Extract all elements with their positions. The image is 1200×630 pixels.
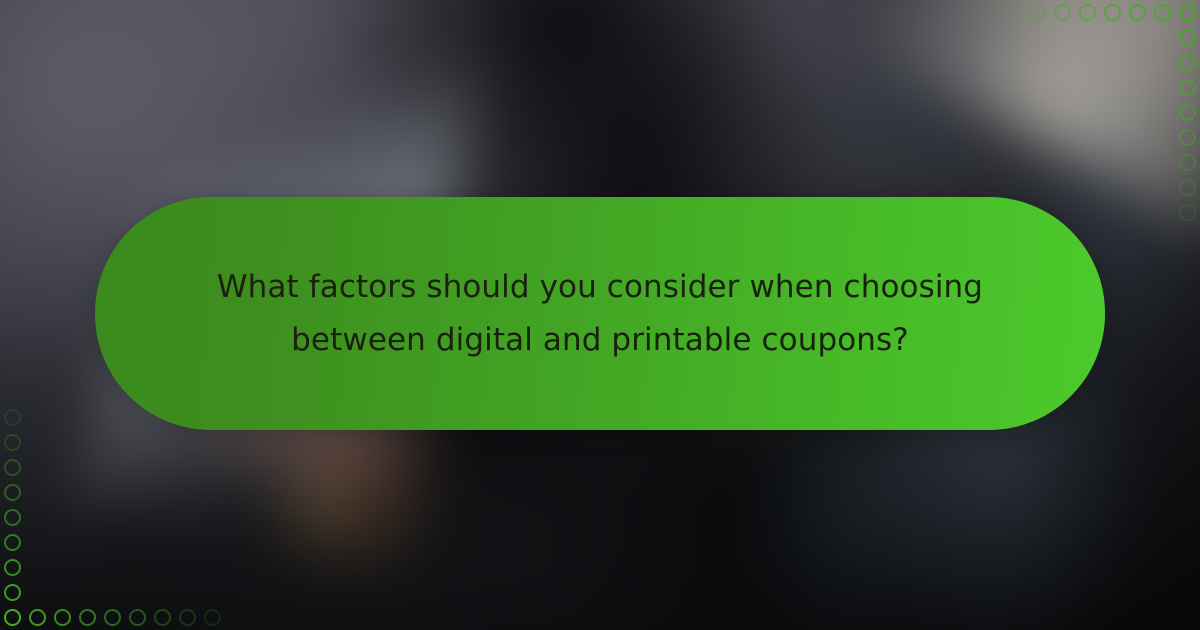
decorative-dot: [1179, 154, 1196, 171]
decorative-dot: [204, 609, 221, 626]
corner-dots-top-right: [980, 0, 1200, 220]
decorative-dot: [29, 609, 46, 626]
decorative-dot: [4, 609, 21, 626]
decorative-dot: [4, 584, 21, 601]
decorative-dot: [129, 609, 146, 626]
decorative-dot: [979, 4, 996, 21]
decorative-dot: [4, 559, 21, 576]
decorative-dot: [54, 609, 71, 626]
decorative-dot: [154, 609, 171, 626]
decorative-dot: [1179, 129, 1196, 146]
decorative-dot: [1179, 29, 1196, 46]
decorative-dot: [1054, 4, 1071, 21]
decorative-dot: [4, 459, 21, 476]
question-card: What factors should you consider when ch…: [95, 197, 1105, 430]
decorative-dot: [1179, 204, 1196, 221]
decorative-dot: [4, 434, 21, 451]
decorative-dot: [1004, 4, 1021, 21]
corner-dots-bottom-left: [0, 410, 220, 630]
decorative-dot: [1179, 54, 1196, 71]
decorative-dot: [4, 409, 21, 426]
decorative-dot: [1179, 104, 1196, 121]
decorative-dot: [1104, 4, 1121, 21]
decorative-dot: [4, 534, 21, 551]
decorative-dot: [1029, 4, 1046, 21]
decorative-dot: [4, 509, 21, 526]
decorative-dot: [1179, 179, 1196, 196]
decorative-dot: [179, 609, 196, 626]
question-text: What factors should you consider when ch…: [205, 261, 995, 367]
decorative-dot: [1129, 4, 1146, 21]
decorative-dot: [4, 484, 21, 501]
screenshot-canvas: What factors should you consider when ch…: [0, 0, 1200, 630]
decorative-dot: [79, 609, 96, 626]
decorative-dot: [104, 609, 121, 626]
decorative-dot: [1154, 4, 1171, 21]
decorative-dot: [1179, 4, 1196, 21]
decorative-dot: [1079, 4, 1096, 21]
decorative-dot: [1179, 79, 1196, 96]
